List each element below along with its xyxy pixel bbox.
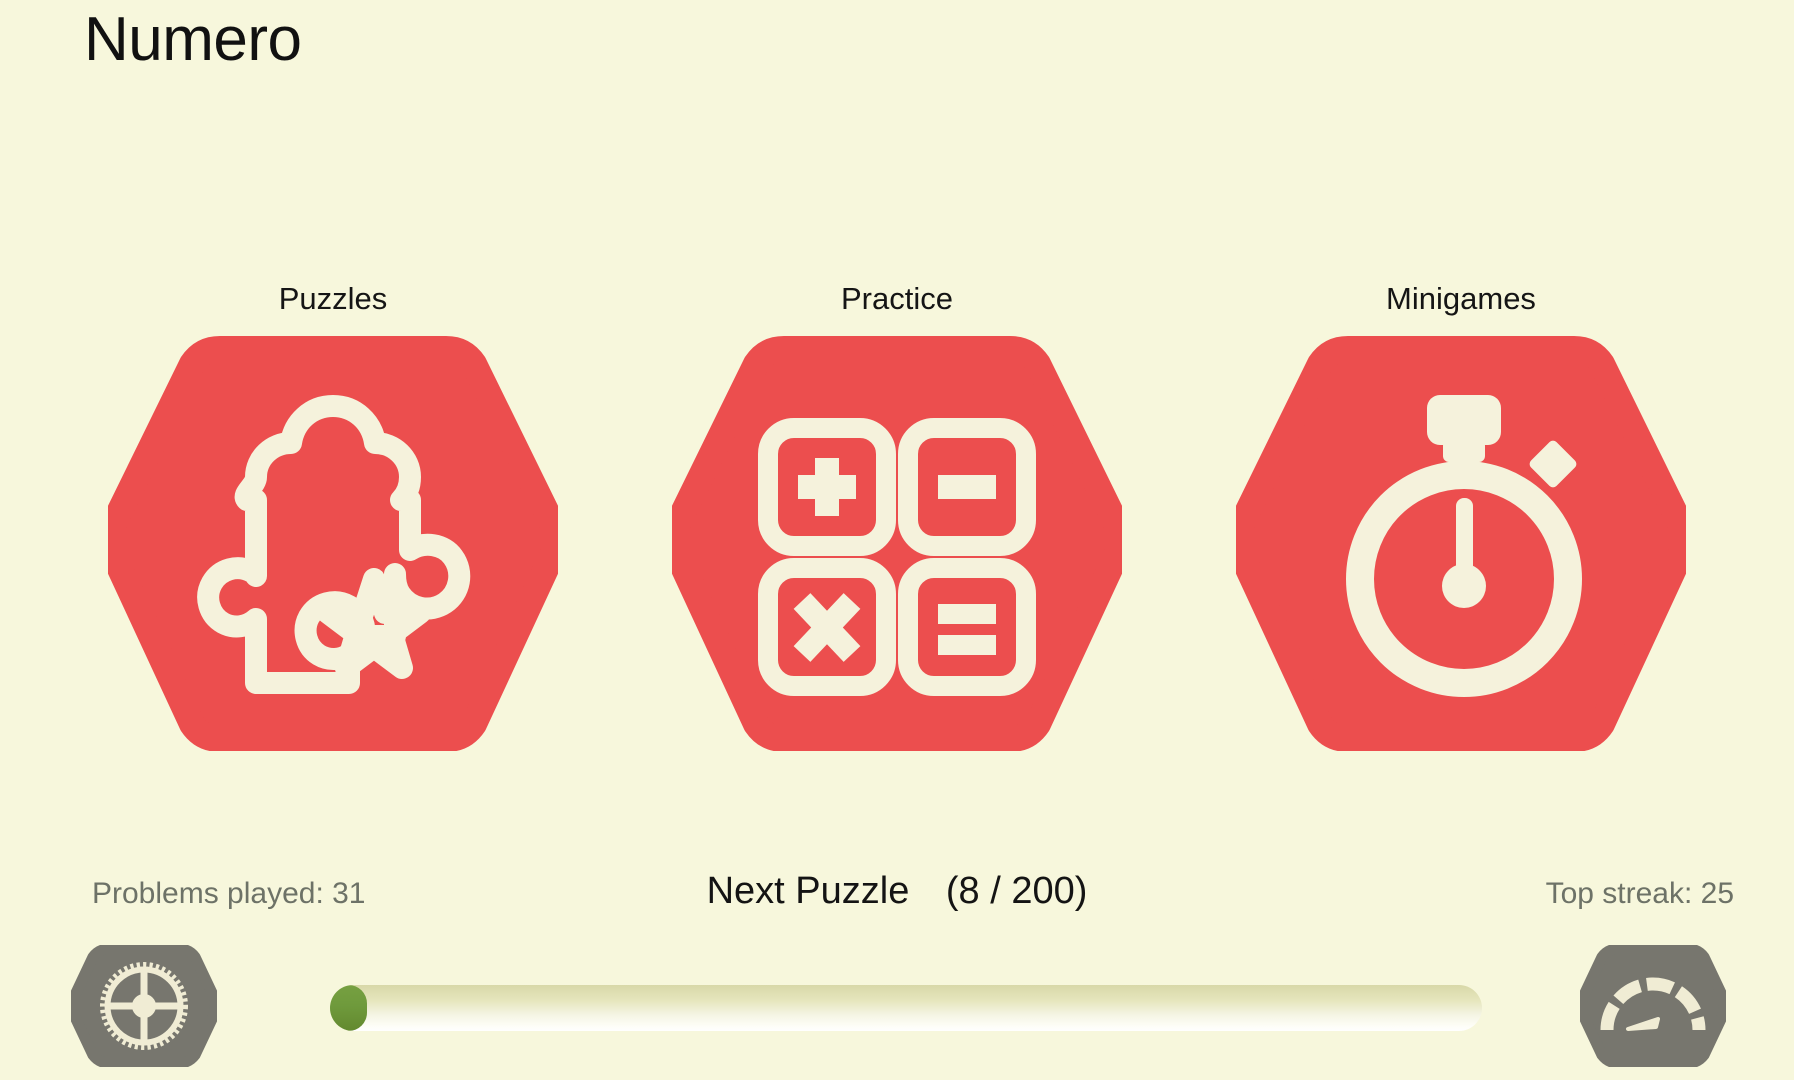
- progress-bar-fill: [330, 985, 367, 1031]
- menu-tile-puzzles[interactable]: Puzzles: [108, 283, 558, 751]
- next-puzzle-label-row: Next Puzzle (8 / 200): [0, 870, 1794, 913]
- hexagon-background: [1582, 949, 1725, 1063]
- difficulty-button[interactable]: [1580, 945, 1726, 1067]
- menu-tile-row: Puzzles Practice: [0, 283, 1794, 751]
- tile-label-practice: Practice: [841, 283, 953, 314]
- next-puzzle-progress-bar[interactable]: [330, 985, 1482, 1031]
- tile-label-minigames: Minigames: [1386, 283, 1536, 314]
- gear-icon: [103, 965, 185, 1047]
- settings-button[interactable]: [71, 945, 217, 1067]
- hex-tile-puzzles-button[interactable]: [108, 336, 558, 751]
- hexagon-background: [675, 349, 1120, 739]
- main-menu-screen: Numero Puzzles Practice: [0, 0, 1794, 1080]
- menu-tile-practice[interactable]: Practice: [672, 283, 1122, 751]
- next-puzzle-label: Next Puzzle: [707, 870, 910, 912]
- next-puzzle-count: (8 / 200): [946, 870, 1088, 912]
- tile-label-puzzles: Puzzles: [279, 283, 388, 314]
- hex-tile-minigames-button[interactable]: [1236, 336, 1686, 751]
- menu-tile-minigames[interactable]: Minigames: [1236, 283, 1686, 751]
- hex-tile-practice-button[interactable]: [672, 336, 1122, 751]
- page-title: Numero: [84, 6, 302, 74]
